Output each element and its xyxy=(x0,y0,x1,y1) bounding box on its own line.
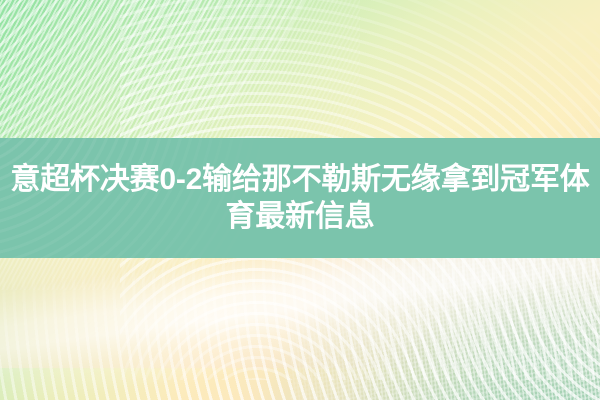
headline-text: 意超杯决赛0-2输给那不勒斯无缘拿到冠军体育最新信息 xyxy=(0,161,600,235)
headline-band: 意超杯决赛0-2输给那不勒斯无缘拿到冠军体育最新信息 xyxy=(0,138,600,258)
banner-image: 意超杯决赛0-2输给那不勒斯无缘拿到冠军体育最新信息 xyxy=(0,0,600,400)
